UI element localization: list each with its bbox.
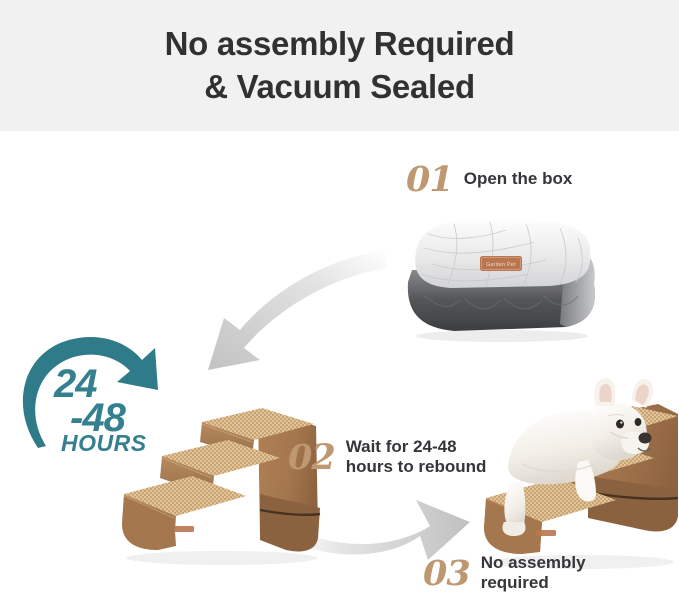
step-01: 01 Open the box (406, 162, 572, 197)
step-01-label: Open the box (464, 169, 573, 189)
page-title-line-1: No assembly Required (165, 23, 515, 65)
curved-arrow-down-left (178, 248, 388, 373)
step-03-number: 03 (423, 556, 470, 591)
step-02-number: 02 (288, 440, 335, 475)
step-01-number: 01 (406, 162, 453, 197)
step-02: 02 Wait for 24-48 hours to rebound (288, 437, 486, 477)
vacuum-sealed-package: Garden Pet (394, 212, 606, 345)
step-02-label: Wait for 24-48 hours to rebound (346, 437, 487, 477)
package-brand-label: Garden Pet (480, 256, 522, 271)
header-banner: No assembly Required & Vacuum Sealed (0, 0, 679, 131)
step-03-label: No assembly required (481, 553, 586, 593)
pet-stairs-with-dog (482, 358, 679, 573)
page-title-line-2: & Vacuum Sealed (204, 66, 475, 108)
infographic-page: No assembly Required & Vacuum Sealed (0, 0, 679, 599)
pet-stairs-expanded (110, 398, 340, 573)
svg-text:Garden Pet: Garden Pet (486, 262, 516, 268)
step-03: 03 No assembly required (423, 553, 586, 593)
